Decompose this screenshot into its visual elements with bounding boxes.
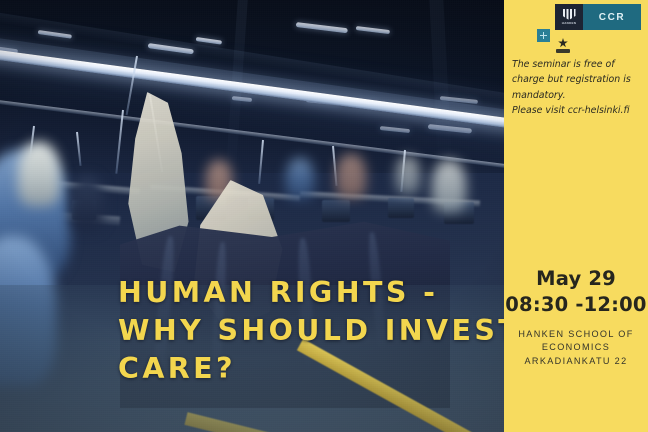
- hanken-wordmark: HANKEN: [562, 21, 576, 25]
- headline-line-3: CARE?: [118, 350, 504, 388]
- event-date: May 29: [504, 266, 648, 292]
- registration-info: The seminar is free of charge but regist…: [512, 57, 645, 118]
- info-line-4[interactable]: Please visit ccr-helsinki.fi: [512, 103, 645, 118]
- sewing-machine: [322, 200, 350, 222]
- info-side-panel: HANKEN CCR The seminar is free of charge…: [504, 0, 648, 432]
- factory-photo-panel: HUMAN RIGHTS - WHY SHOULD INVESTORS CARE…: [0, 0, 504, 432]
- worker-figure: [396, 156, 420, 194]
- headline-line-1: HUMAN RIGHTS -: [118, 274, 504, 312]
- headline-line-2: WHY SHOULD INVESTORS: [118, 312, 504, 350]
- venue-line-3: ARKADIANKATU 22: [504, 355, 648, 368]
- worker-figure: [336, 154, 366, 198]
- worker-figure: [432, 160, 466, 212]
- venue-line-2: ECONOMICS: [504, 341, 648, 354]
- info-line-1: The seminar is free of: [512, 57, 645, 72]
- sewing-machine: [388, 198, 414, 218]
- poster-headline: HUMAN RIGHTS - WHY SHOULD INVESTORS CARE…: [118, 274, 504, 388]
- ccr-label: CCR: [583, 4, 641, 30]
- hanken-ccr-logo[interactable]: HANKEN CCR: [555, 4, 641, 30]
- info-line-2: charge but registration is: [512, 72, 645, 87]
- event-poster: HUMAN RIGHTS - WHY SHOULD INVESTORS CARE…: [0, 0, 648, 432]
- event-datetime: May 29 08:30 -12:00: [504, 266, 648, 318]
- worker-figure: [18, 142, 60, 206]
- emblem-band: [556, 49, 570, 53]
- hanken-crest-icon: [563, 9, 576, 20]
- worker-figure: [286, 158, 314, 200]
- info-line-3: mandatory.: [512, 88, 645, 103]
- event-time: 08:30 -12:00: [504, 292, 648, 318]
- event-venue: HANKEN SCHOOL OF ECONOMICS ARKADIANKATU …: [504, 328, 648, 368]
- star-emblem-icon: [555, 38, 571, 53]
- hanken-mark-icon: HANKEN: [555, 4, 583, 30]
- star-shape: [558, 38, 568, 48]
- venue-line-1: HANKEN SCHOOL OF: [504, 328, 648, 341]
- plus-icon: [537, 29, 550, 42]
- worker-figure: [70, 176, 104, 230]
